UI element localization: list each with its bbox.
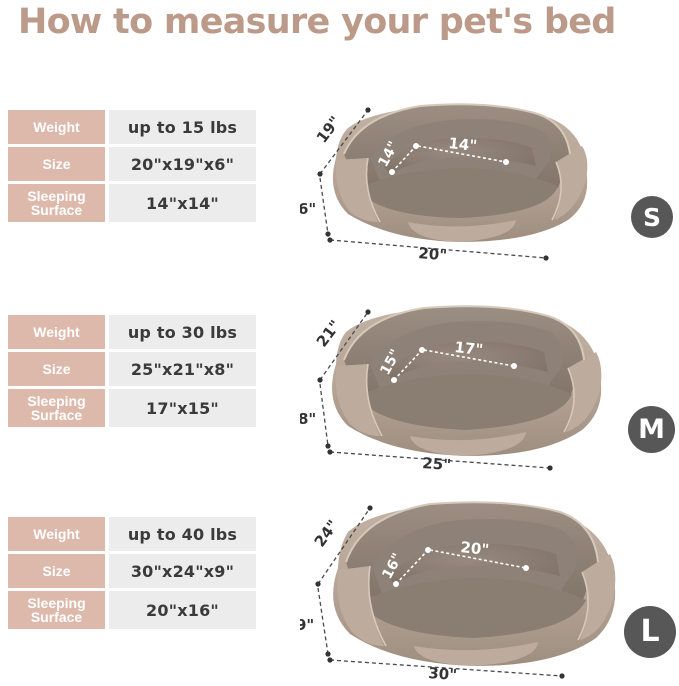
dimension-dot [365, 107, 370, 112]
size-badge-small: S [631, 196, 673, 238]
dimension-line-height [320, 384, 328, 446]
row-label-size: Size [8, 554, 105, 588]
dimension-dot [317, 171, 322, 176]
row-value-weight: up to 30 lbs [109, 315, 256, 349]
dimension-dot [543, 255, 548, 260]
dimension-dot [325, 651, 330, 656]
row-value-sleeping-surface: 14"x14" [109, 184, 256, 222]
page-title: How to measure your pet's bed [18, 2, 678, 42]
dimension-label-width: 30" [428, 664, 458, 681]
row-label-size: Size [8, 352, 105, 386]
dimension-label-width: 20" [418, 244, 448, 262]
bed-svg-small: 19" 6" 20" 14" 14" [300, 62, 630, 262]
dimension-dot [327, 449, 332, 454]
row-value-size: 25"x21"x8" [109, 352, 256, 386]
size-badge-medium: M [628, 406, 675, 453]
dimension-label-height: 8" [300, 410, 316, 428]
table-row: Weight up to 15 lbs [8, 110, 256, 144]
dimension-label-height: 9" [300, 616, 314, 634]
table-row: Sleeping Surface 14"x14" [8, 184, 256, 222]
dimension-dot [327, 657, 332, 662]
dimension-dot [325, 443, 330, 448]
row-label-sleeping-surface: Sleeping Surface [8, 591, 105, 629]
dimension-line-height [320, 178, 328, 234]
dimension-dot [559, 673, 564, 678]
dimension-label-inner-width: 20" [460, 538, 490, 559]
row-label-sleeping-surface: Sleeping Surface [8, 389, 105, 427]
row-label-weight: Weight [8, 315, 105, 349]
row-value-size: 20"x19"x6" [109, 147, 256, 181]
dimension-dot [393, 581, 399, 587]
table-row: Weight up to 30 lbs [8, 315, 256, 349]
row-value-weight: up to 40 lbs [109, 517, 256, 551]
spec-table-medium: Weight up to 30 lbs Size 25"x21"x8" Slee… [8, 315, 256, 427]
row-value-sleeping-surface: 20"x16" [109, 591, 256, 629]
dimension-dot [325, 231, 330, 236]
dimension-dot [523, 565, 529, 571]
dimension-dot [365, 309, 370, 314]
bed-illustration-large: 24" 9" 30" 16" 20" [300, 466, 650, 681]
row-value-weight: up to 15 lbs [109, 110, 256, 144]
dimension-label-height: 6" [300, 200, 316, 218]
table-row: Size 30"x24"x9" [8, 554, 256, 588]
bed-illustration-medium: 21" 8" 25" 15" 17" [300, 266, 640, 471]
dimension-dot [317, 377, 322, 382]
dimension-dot [389, 169, 395, 175]
table-row: Size 25"x21"x8" [8, 352, 256, 386]
dimension-label-depth: 24" [311, 517, 342, 551]
dimension-dot [511, 363, 517, 369]
dimension-dot [367, 505, 372, 510]
row-label-weight: Weight [8, 517, 105, 551]
row-value-sleeping-surface: 17"x15" [109, 389, 256, 427]
row-value-size: 30"x24"x9" [109, 554, 256, 588]
dimension-dot [391, 377, 397, 383]
table-row: Sleeping Surface 17"x15" [8, 389, 256, 427]
row-label-sleeping-surface: Sleeping Surface [8, 184, 105, 222]
size-badge-large: L [624, 606, 676, 658]
spec-table-large: Weight up to 40 lbs Size 30"x24"x9" Slee… [8, 517, 256, 629]
spec-table-small: Weight up to 15 lbs Size 20"x19"x6" Slee… [8, 110, 256, 222]
dimension-dot [315, 581, 320, 586]
bed-svg-medium: 21" 8" 25" 15" 17" [300, 266, 640, 471]
dimension-dot [503, 159, 509, 165]
row-label-weight: Weight [8, 110, 105, 144]
row-label-size: Size [8, 147, 105, 181]
bed-svg-large: 24" 9" 30" 16" 20" [300, 466, 650, 681]
dimension-label-inner-width: 17" [454, 338, 484, 359]
table-row: Size 20"x19"x6" [8, 147, 256, 181]
dimension-line-height [318, 588, 328, 654]
bed-illustration-small: 19" 6" 20" 14" 14" [300, 62, 630, 262]
table-row: Weight up to 40 lbs [8, 517, 256, 551]
dimension-label-inner-width: 14" [448, 134, 478, 155]
table-row: Sleeping Surface 20"x16" [8, 591, 256, 629]
dimension-dot [327, 237, 332, 242]
